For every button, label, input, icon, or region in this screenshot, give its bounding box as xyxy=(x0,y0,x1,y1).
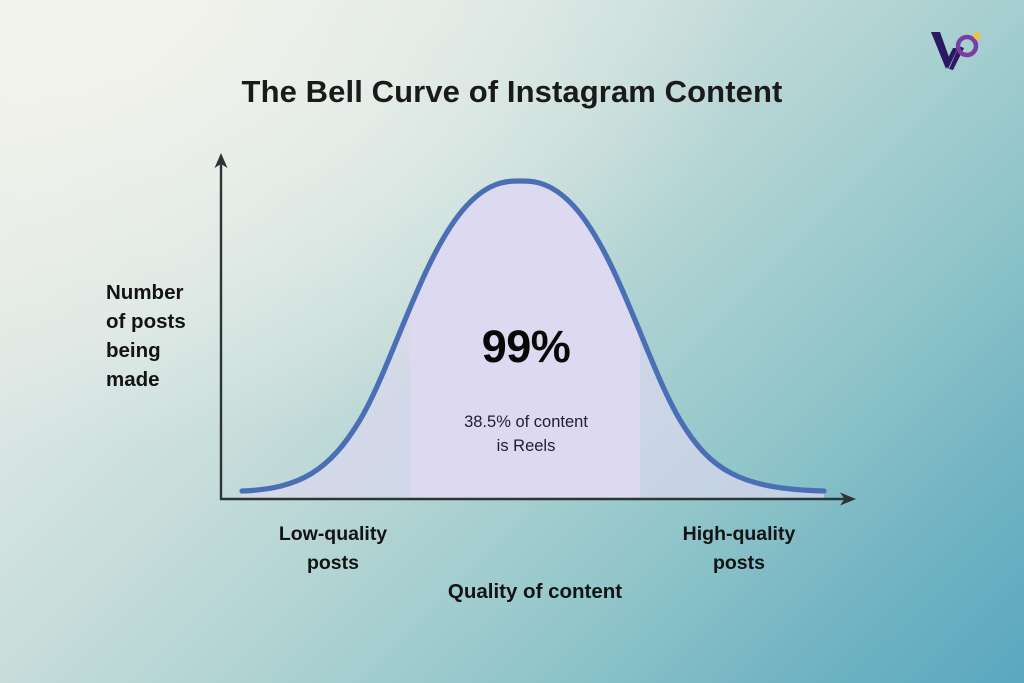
x-axis-title: Quality of content xyxy=(400,580,670,604)
highlight-percentage: 99% xyxy=(412,321,640,373)
highlight-caption-line-1: 38.5% of content xyxy=(412,410,640,434)
x-axis-right-label-line-2: posts xyxy=(648,549,830,578)
highlight-caption-line-2: is Reels xyxy=(412,434,640,458)
x-axis-left-label-line-1: Low-quality xyxy=(242,520,424,549)
y-axis-label-line-2: of posts xyxy=(106,307,226,336)
x-axis-left-label: Low-quality posts xyxy=(242,520,424,578)
x-axis-right-label: High-quality posts xyxy=(648,520,830,578)
y-axis-label-line-1: Number xyxy=(106,278,226,307)
infographic-canvas: The Bell Curve of Instagram Content Numb… xyxy=(0,0,1024,683)
y-axis-label-line-4: made xyxy=(106,365,226,394)
x-axis-left-label-line-2: posts xyxy=(242,549,424,578)
highlight-caption: 38.5% of content is Reels xyxy=(412,410,640,458)
y-axis-label: Number of posts being made xyxy=(106,278,226,394)
y-axis-label-line-3: being xyxy=(106,336,226,365)
x-axis-right-label-line-1: High-quality xyxy=(648,520,830,549)
